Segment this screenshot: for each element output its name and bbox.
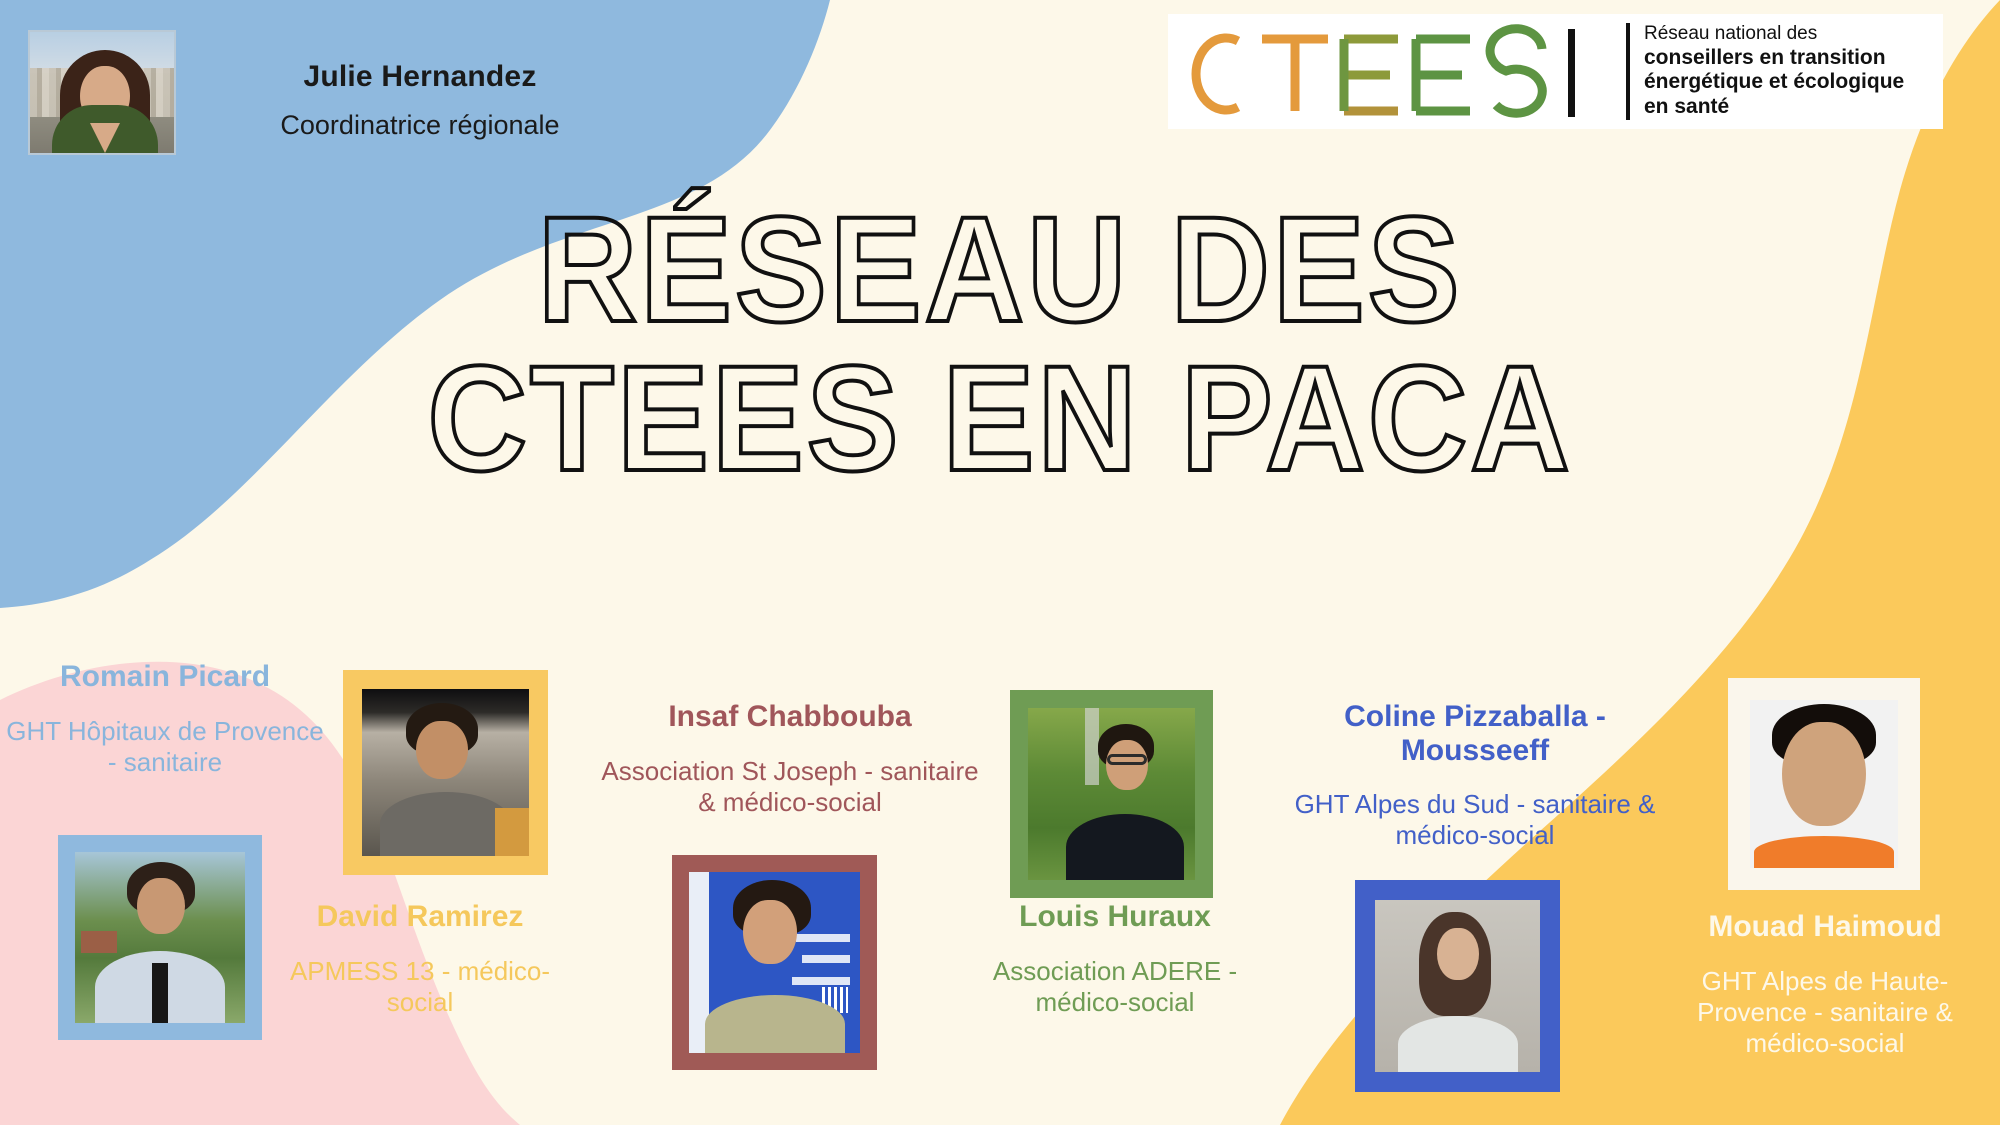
portrait-coline-pizzaballa-mousseeff xyxy=(1375,900,1540,1072)
logo-divider xyxy=(1568,29,1575,117)
title-line-2: CTEES EN PACA xyxy=(80,344,1920,493)
ctees-wordmark-svg xyxy=(1176,19,1616,124)
portrait-mouad-haimoud xyxy=(1750,700,1898,868)
person-org-mouad-haimoud: GHT Alpes de Haute-Provence - sanitaire … xyxy=(1650,966,2000,1060)
person-name-louis-huraux: Louis Huraux xyxy=(945,900,1285,934)
tagline-line-2: conseillers en transition xyxy=(1644,46,1935,71)
coordinator-role: Coordinatrice régionale xyxy=(160,110,680,141)
tagline-line-3: énergétique et écologique xyxy=(1644,70,1935,95)
person-name-david-ramirez: David Ramirez xyxy=(255,900,585,934)
page-title: RÉSEAU DES CTEES EN PACA xyxy=(80,195,1920,492)
tagline-line-4: en santé xyxy=(1644,95,1935,120)
person-name-romain-picard: Romain Picard xyxy=(0,660,330,694)
portrait-insaf-chabbouba xyxy=(689,872,860,1053)
person-org-coline-pizzaballa-mousseeff: GHT Alpes du Sud - sanitaire & médico-so… xyxy=(1275,789,1675,851)
person-org-insaf-chabbouba: Association St Joseph - sanitaire & médi… xyxy=(575,756,1005,818)
person-org-louis-huraux: Association ADERE - médico-social xyxy=(945,956,1285,1018)
person-name-insaf-chabbouba: Insaf Chabbouba xyxy=(575,700,1005,734)
person-photo-mouad-haimoud xyxy=(1728,678,1920,890)
person-card-mouad-haimoud: Mouad Haimoud GHT Alpes de Haute-Provenc… xyxy=(1650,910,2000,1059)
title-line-1: RÉSEAU DES xyxy=(538,185,1463,353)
person-photo-david-ramirez xyxy=(343,670,548,875)
person-card-david-ramirez: David Ramirez APMESS 13 - médico-social xyxy=(255,900,585,1018)
person-photo-louis-huraux xyxy=(1010,690,1213,898)
person-name-coline-pizzaballa-mousseeff: Coline Pizzaballa - Mousseeff xyxy=(1275,700,1675,767)
tagline-line-1: Réseau national des xyxy=(1644,23,1935,45)
person-card-insaf-chabbouba: Insaf Chabbouba Association St Joseph - … xyxy=(575,700,1005,818)
person-card-romain-picard: Romain Picard GHT Hôpitaux de Provence -… xyxy=(0,660,330,778)
julie-hernandez-photo xyxy=(28,30,176,155)
coordinator-name: Julie Hernandez xyxy=(200,60,640,94)
portrait-romain-picard xyxy=(75,852,245,1023)
portrait-louis-huraux xyxy=(1028,708,1195,880)
person-org-romain-picard: GHT Hôpitaux de Provence - sanitaire xyxy=(0,716,330,778)
portrait-david-ramirez xyxy=(362,689,529,856)
person-name-mouad-haimoud: Mouad Haimoud xyxy=(1650,910,2000,944)
ctees-logo: Réseau national des conseillers en trans… xyxy=(1168,14,1943,129)
person-photo-romain-picard xyxy=(58,835,262,1040)
person-org-david-ramirez: APMESS 13 - médico-social xyxy=(255,956,585,1018)
poster-canvas: Julie Hernandez Coordinatrice régionale xyxy=(0,0,2000,1125)
person-photo-insaf-chabbouba xyxy=(672,855,877,1070)
person-card-coline-pizzaballa-mousseeff: Coline Pizzaballa - Mousseeff GHT Alpes … xyxy=(1275,700,1675,852)
person-card-louis-huraux: Louis Huraux Association ADERE - médico-… xyxy=(945,900,1285,1018)
ctees-wordmark xyxy=(1176,19,1616,124)
ctees-tagline: Réseau national des conseillers en trans… xyxy=(1626,23,1935,120)
person-photo-coline-pizzaballa-mousseeff xyxy=(1355,880,1560,1092)
